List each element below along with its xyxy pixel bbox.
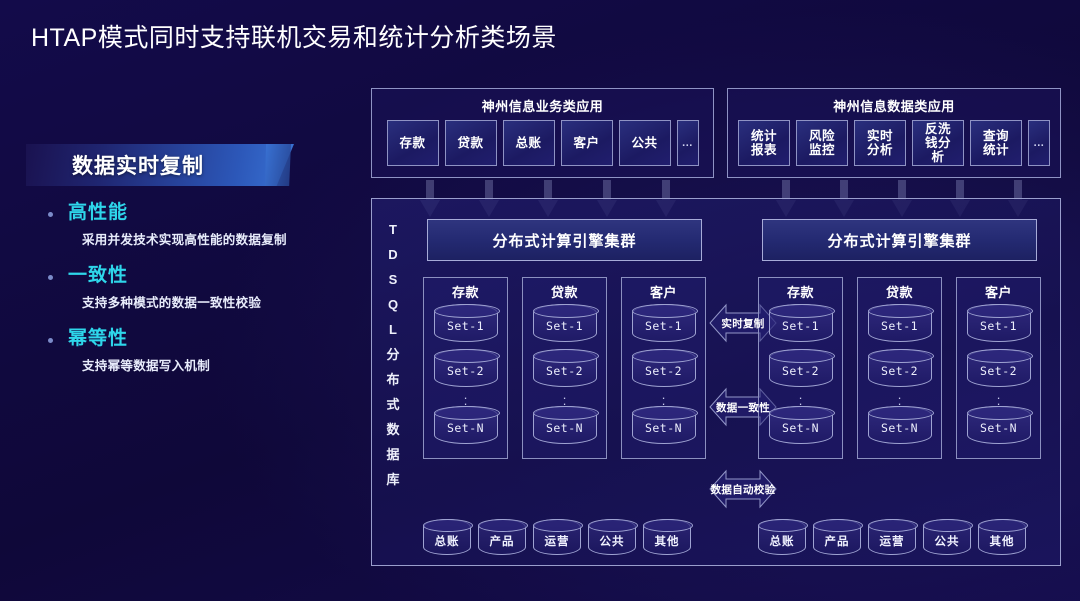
bullet-dot-icon (48, 275, 53, 280)
app-group-business: 神州信息业务类应用 存款 贷款 总账 客户 公共 ... (371, 88, 714, 178)
app-item[interactable]: 存款 (387, 120, 439, 166)
set-label: Set-2 (534, 364, 596, 378)
tdsql-label-char: 库 (381, 467, 405, 492)
vertical-ellipsis-icon: .. (622, 392, 705, 404)
app-group-data: 神州信息数据类应用 统计报表 风险监控 实时分析 反洗钱分析 查询统计 ... (727, 88, 1061, 178)
bullet-description: 采用并发技术实现高性能的数据复制 (82, 231, 356, 249)
database-set-cylinder[interactable]: Set-N (769, 406, 833, 444)
database-set-cylinder[interactable]: Set-N (533, 406, 597, 444)
app-group-title: 神州信息业务类应用 (372, 89, 713, 115)
link-arrow-label: 数据一致性 (708, 400, 778, 415)
bottom-database-label: 公共 (589, 533, 635, 549)
database-set-cylinder[interactable]: Set-1 (632, 304, 696, 342)
bottom-database-label: 产品 (814, 533, 860, 549)
architecture-diagram: 神州信息业务类应用 存款 贷款 总账 客户 公共 ... 神州信息数据类应用 统… (371, 88, 1061, 566)
tdsql-label-char: Q (381, 292, 405, 317)
app-item-more[interactable]: ... (1028, 120, 1050, 166)
app-item[interactable]: 总账 (503, 120, 555, 166)
bottom-database[interactable]: 公共 (923, 519, 971, 555)
app-item[interactable]: 查询统计 (970, 120, 1022, 166)
set-label: Set-2 (869, 364, 931, 378)
set-label: Set-1 (968, 319, 1030, 333)
vertical-ellipsis-icon: .. (523, 392, 606, 404)
set-column: 客户 Set-1 Set-2 .. Set-N (621, 277, 706, 459)
bullet-item-0: 高性能 采用并发技术实现高性能的数据复制 (26, 200, 356, 249)
app-item[interactable]: 客户 (561, 120, 613, 166)
set-label: Set-N (770, 421, 832, 435)
app-item[interactable]: 统计报表 (738, 120, 790, 166)
set-column-title: 贷款 (858, 282, 941, 301)
bottom-database[interactable]: 产品 (478, 519, 526, 555)
set-label: Set-N (633, 421, 695, 435)
app-item[interactable]: 贷款 (445, 120, 497, 166)
set-column-title: 存款 (759, 282, 842, 301)
database-set-cylinder[interactable]: Set-N (967, 406, 1031, 444)
database-set-cylinder[interactable]: Set-1 (868, 304, 932, 342)
database-set-cylinder[interactable]: Set-2 (967, 349, 1031, 387)
vertical-ellipsis-icon: .. (957, 392, 1040, 404)
bottom-database[interactable]: 总账 (758, 519, 806, 555)
tdsql-label-char: 据 (381, 442, 405, 467)
bottom-database[interactable]: 其他 (643, 519, 691, 555)
bottom-database-label: 总账 (759, 533, 805, 549)
database-set-cylinder[interactable]: Set-N (632, 406, 696, 444)
database-set-cylinder[interactable]: Set-1 (533, 304, 597, 342)
app-item-list: 统计报表 风险监控 实时分析 反洗钱分析 查询统计 ... (728, 115, 1060, 166)
database-set-cylinder[interactable]: Set-2 (533, 349, 597, 387)
bottom-database[interactable]: 总账 (423, 519, 471, 555)
cluster-left: 分布式计算引擎集群 存款 Set-1 Set-2 .. Set-N 贷款 Set… (417, 199, 712, 567)
set-column-list: 存款 Set-1 Set-2 .. Set-N 贷款 Set-1 Set-2 .… (752, 277, 1047, 459)
bullet-heading: 高性能 (68, 200, 356, 226)
database-set-cylinder[interactable]: Set-2 (632, 349, 696, 387)
app-item-more[interactable]: ... (677, 120, 699, 166)
bottom-database-label: 总账 (424, 533, 470, 549)
tdsql-label-char: 布 (381, 367, 405, 392)
bottom-database-label: 其他 (644, 533, 690, 549)
link-arrow-label: 实时复制 (708, 316, 778, 331)
set-column: 贷款 Set-1 Set-2 .. Set-N (857, 277, 942, 459)
vertical-ellipsis-icon: .. (858, 392, 941, 404)
tdsql-label-char: T (381, 217, 405, 242)
set-label: Set-N (968, 421, 1030, 435)
bottom-database[interactable]: 公共 (588, 519, 636, 555)
set-column: 存款 Set-1 Set-2 .. Set-N (758, 277, 843, 459)
link-arrow-label: 数据自动校验 (708, 482, 778, 497)
database-set-cylinder[interactable]: Set-1 (769, 304, 833, 342)
database-set-cylinder[interactable]: Set-1 (967, 304, 1031, 342)
bottom-database-label: 运营 (869, 533, 915, 549)
bullet-description: 支持多种模式的数据一致性校验 (82, 294, 356, 312)
app-item[interactable]: 反洗钱分析 (912, 120, 964, 166)
bullet-item-2: 幂等性 支持幂等数据写入机制 (26, 326, 356, 375)
app-item[interactable]: 实时分析 (854, 120, 906, 166)
bottom-database[interactable]: 产品 (813, 519, 861, 555)
set-label: Set-1 (435, 319, 497, 333)
set-label: Set-1 (869, 319, 931, 333)
tdsql-vertical-label: TDSQL分布式数据库 (381, 217, 405, 492)
set-column: 贷款 Set-1 Set-2 .. Set-N (522, 277, 607, 459)
set-column: 存款 Set-1 Set-2 .. Set-N (423, 277, 508, 459)
set-column: 客户 Set-1 Set-2 .. Set-N (956, 277, 1041, 459)
set-column-title: 贷款 (523, 282, 606, 301)
tdsql-label-char: D (381, 242, 405, 267)
sidebar: 数据实时复制 高性能 采用并发技术实现高性能的数据复制 一致性 支持多种模式的数… (26, 144, 356, 375)
page-title: HTAP模式同时支持联机交易和统计分析类场景 (31, 18, 557, 54)
set-column-title: 存款 (424, 282, 507, 301)
tdsql-label-char: 数 (381, 417, 405, 442)
set-label: Set-2 (770, 364, 832, 378)
set-column-title: 客户 (622, 282, 705, 301)
set-label: Set-2 (968, 364, 1030, 378)
set-column-list: 存款 Set-1 Set-2 .. Set-N 贷款 Set-1 Set-2 .… (417, 277, 712, 459)
set-label: Set-N (534, 421, 596, 435)
bottom-database[interactable]: 其他 (978, 519, 1026, 555)
set-label: Set-2 (633, 364, 695, 378)
bottom-database-label: 其他 (979, 533, 1025, 549)
bottom-database[interactable]: 运营 (868, 519, 916, 555)
tdsql-label-char: S (381, 267, 405, 292)
database-set-cylinder[interactable]: Set-2 (769, 349, 833, 387)
bullet-heading: 一致性 (68, 263, 356, 289)
app-item[interactable]: 风险监控 (796, 120, 848, 166)
set-label: Set-2 (435, 364, 497, 378)
bullet-dot-icon (48, 338, 53, 343)
compute-engine-cluster: 分布式计算引擎集群 (762, 219, 1037, 261)
section-banner: 数据实时复制 (26, 144, 294, 186)
set-label: Set-1 (770, 319, 832, 333)
bottom-database-label: 产品 (479, 533, 525, 549)
bottom-database[interactable]: 运营 (533, 519, 581, 555)
section-banner-accent (265, 144, 291, 186)
database-set-cylinder[interactable]: Set-1 (434, 304, 498, 342)
set-label: Set-N (869, 421, 931, 435)
bullet-dot-icon (48, 212, 53, 217)
bottom-database-list: 总账 产品 运营 公共 其他 (758, 519, 1041, 555)
section-banner-title: 数据实时复制 (72, 150, 204, 180)
set-column-title: 客户 (957, 282, 1040, 301)
database-set-cylinder[interactable]: Set-2 (868, 349, 932, 387)
set-label: Set-1 (534, 319, 596, 333)
bottom-database-label: 运营 (534, 533, 580, 549)
compute-engine-cluster: 分布式计算引擎集群 (427, 219, 702, 261)
bottom-database-list: 总账 产品 运营 公共 其他 (423, 519, 706, 555)
tdsql-label-char: 式 (381, 392, 405, 417)
vertical-ellipsis-icon: .. (424, 392, 507, 404)
app-group-title: 神州信息数据类应用 (728, 89, 1060, 115)
bullet-description: 支持幂等数据写入机制 (82, 357, 356, 375)
set-label: Set-N (435, 421, 497, 435)
tdsql-panel: TDSQL分布式数据库 分布式计算引擎集群 存款 Set-1 Set-2 .. … (371, 198, 1061, 566)
app-item[interactable]: 公共 (619, 120, 671, 166)
app-item-list: 存款 贷款 总账 客户 公共 ... (372, 115, 713, 166)
database-set-cylinder[interactable]: Set-N (434, 406, 498, 444)
database-set-cylinder[interactable]: Set-N (868, 406, 932, 444)
cluster-right: 分布式计算引擎集群 存款 Set-1 Set-2 .. Set-N 贷款 Set… (752, 199, 1047, 567)
bullet-item-1: 一致性 支持多种模式的数据一致性校验 (26, 263, 356, 312)
bottom-database-label: 公共 (924, 533, 970, 549)
tdsql-label-char: 分 (381, 342, 405, 367)
tdsql-label-char: L (381, 317, 405, 342)
set-label: Set-1 (633, 319, 695, 333)
bullet-heading: 幂等性 (68, 326, 356, 352)
database-set-cylinder[interactable]: Set-2 (434, 349, 498, 387)
